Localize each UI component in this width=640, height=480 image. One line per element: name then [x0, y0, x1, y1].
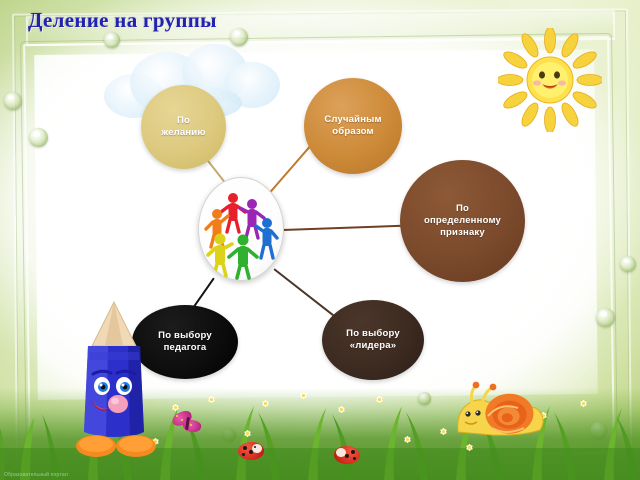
daisy-icon — [440, 428, 447, 435]
daisy-icon — [580, 400, 587, 407]
node-label: По выбору «лидера» — [346, 328, 400, 352]
bead-decoration — [4, 92, 22, 110]
bead-decoration — [230, 28, 248, 46]
bead-decoration — [104, 32, 120, 48]
people-circle — [198, 177, 284, 281]
node-po-vyboru-lidera[interactable]: По выбору «лидера» — [322, 300, 424, 380]
daisy-icon — [262, 400, 269, 407]
daisy-icon — [244, 430, 251, 437]
ladybug-icon — [238, 442, 264, 460]
daisy-icon — [404, 436, 411, 443]
node-label: По желанию — [161, 115, 205, 139]
daisy-icon — [208, 396, 215, 403]
bead-decoration — [620, 256, 636, 272]
snail-icon — [452, 378, 562, 442]
node-label: Случайным образом — [324, 114, 381, 138]
daisy-icon — [376, 396, 383, 403]
node-po-opredelennomu-priznaku[interactable]: По определенному признаку — [400, 160, 525, 282]
slide-canvas: По желанию Случайным образом По определе… — [0, 0, 640, 480]
daisy-icon — [300, 392, 307, 399]
butterfly-icon — [172, 412, 206, 434]
pencil-mascot-icon — [62, 300, 166, 460]
bead-decoration — [596, 308, 615, 327]
page-title: Деление на группы — [28, 8, 217, 33]
node-label: По выбору педагога — [158, 330, 212, 354]
daisy-icon — [338, 406, 345, 413]
watermark-text: Образовательный портал — [4, 472, 68, 478]
daisy-icon — [466, 444, 473, 451]
bead-decoration — [29, 128, 48, 147]
daisy-icon — [172, 404, 179, 411]
node-label: По определенному признаку — [424, 203, 501, 239]
sun-icon — [498, 28, 602, 132]
node-sluchaynym-obrazom[interactable]: Случайным образом — [304, 78, 402, 174]
node-po-zhelaniyu[interactable]: По желанию — [141, 85, 226, 169]
ladybug-icon — [334, 446, 360, 464]
